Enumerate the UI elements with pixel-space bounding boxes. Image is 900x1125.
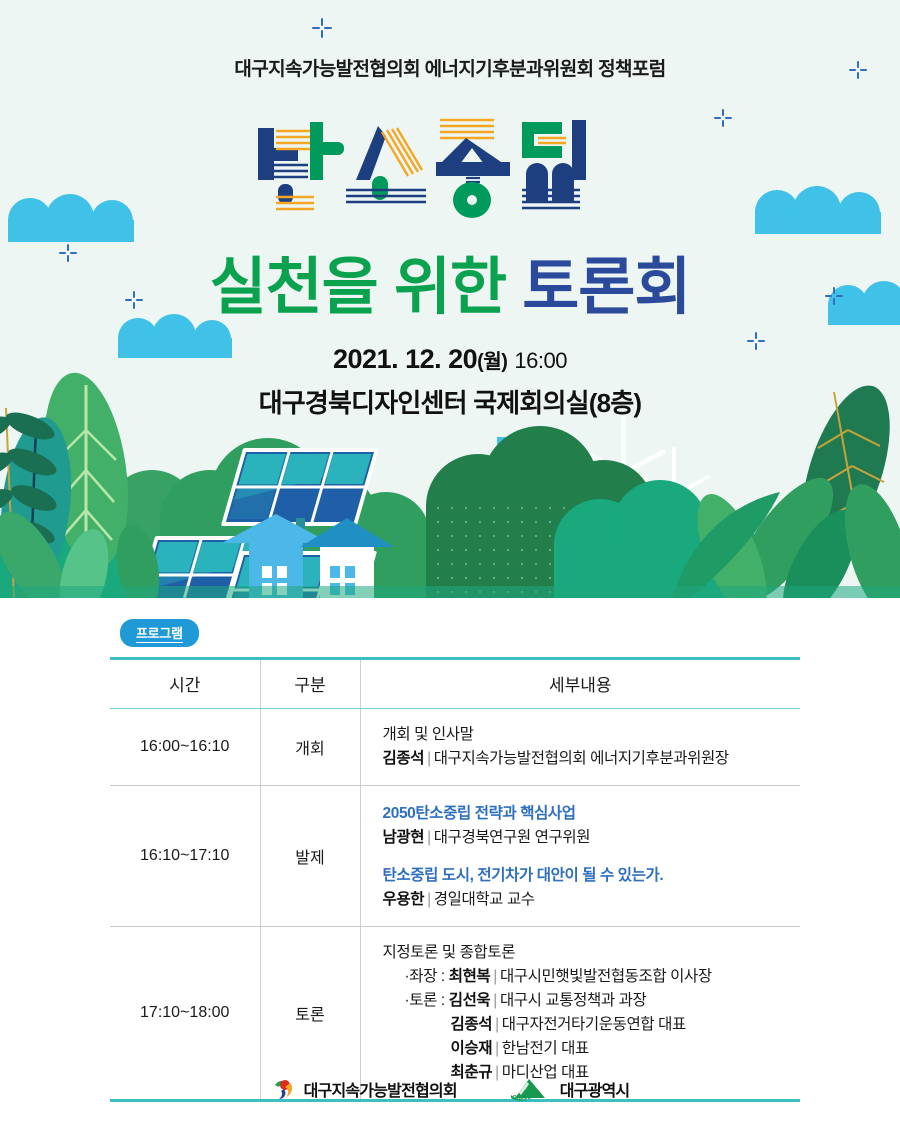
detail-person: 우용한|경일대학교 교수 xyxy=(383,888,791,912)
program-badge: 프로그램 xyxy=(120,619,199,647)
svg-text:DAEGU: DAEGU xyxy=(513,1095,531,1101)
table-row: 17:10~18:00 토론 지정토론 및 종합토론 ·좌장 : 최현복|대구시… xyxy=(110,927,800,1100)
event-time: 16:00 xyxy=(514,348,567,373)
title-glyph-jung xyxy=(436,120,510,218)
detail-text: 개회 및 인사말 xyxy=(383,723,791,747)
program-table: 시간 구분 세부내용 16:00~16:10 개회 개회 및 인사말 김종석|대… xyxy=(110,660,800,1099)
footer-logos: 대구지속가능발전협의회 DAEGU 대구광역시 xyxy=(0,1076,900,1102)
title-glyph-rip xyxy=(522,120,586,208)
title-glyph-tan xyxy=(258,122,344,209)
title-glyph-so xyxy=(346,126,426,202)
row-kind: 개회 xyxy=(260,709,360,786)
detail-topic: 2050탄소중립 전략과 핵심사업 xyxy=(383,802,791,826)
page-title-sub: 실천을 위한 토론회 xyxy=(0,236,900,326)
divider-bar: | xyxy=(424,750,434,767)
person-role-prefix: ·좌장 : xyxy=(405,968,449,985)
event-venue: 대구경북디자인센터 국제회의실(8층) xyxy=(0,383,900,420)
title-sub-navy: 토론회 xyxy=(522,253,690,322)
table-row: 16:10~17:10 발제 2050탄소중립 전략과 핵심사업 남광현|대구경… xyxy=(110,786,800,927)
person-name: 김종석 xyxy=(383,750,425,767)
title-artwork-tansojungrip xyxy=(250,112,650,220)
detail-topic: 탄소중립 도시, 전기차가 대안이 될 수 있는가. xyxy=(383,864,791,888)
person-affiliation: 대구자전거타기운동연합 대표 xyxy=(502,1016,686,1033)
detail-person: 김종석|대구지속가능발전협의회 에너지기후분과위원장 xyxy=(383,747,791,771)
row-time: 16:00~16:10 xyxy=(110,709,260,786)
person-name: 남광현 xyxy=(383,829,425,846)
person-affiliation: 대구시 교통정책과 과장 xyxy=(500,992,646,1009)
table-row: 16:00~16:10 개회 개회 및 인사말 김종석|대구지속가능발전협의회 … xyxy=(110,709,800,786)
detail-person: 남광현|대구경북연구원 연구위원 xyxy=(383,826,791,850)
poster-root: 대구지속가능발전협의회 에너지기후분과위원회 정책포럼 xyxy=(0,0,900,1125)
program-badge-label: 프로그램 xyxy=(136,626,183,643)
swirl-logo-icon xyxy=(271,1076,297,1102)
table-header-row: 시간 구분 세부내용 xyxy=(110,660,800,709)
column-header-kind: 구분 xyxy=(260,660,360,709)
person-role-prefix: ·토론 : xyxy=(405,992,449,1009)
person-affiliation: 대구지속가능발전협의회 에너지기후분과위원장 xyxy=(434,750,729,767)
divider-bar: | xyxy=(492,1016,502,1033)
person-name: 김선욱 xyxy=(449,992,491,1009)
column-header-detail: 세부내용 xyxy=(360,660,800,709)
person-name: 최현복 xyxy=(449,968,491,985)
page-title-main xyxy=(0,112,900,222)
detail-person: 김종석|대구자전거타기운동연합 대표 xyxy=(383,1013,791,1037)
row-kind: 토론 xyxy=(260,927,360,1100)
detail-person: ·좌장 : 최현복|대구시민햇빛발전협동조합 이사장 xyxy=(383,965,791,989)
person-name: 이승재 xyxy=(451,1040,493,1057)
person-affiliation: 한남전기 대표 xyxy=(502,1040,589,1057)
column-header-time: 시간 xyxy=(110,660,260,709)
person-name: 김종석 xyxy=(451,1016,493,1033)
row-time: 17:10~18:00 xyxy=(110,927,260,1100)
event-datetime-block: 2021. 12. 20(월) 16:00 대구경북디자인센터 국제회의실(8층… xyxy=(0,344,900,420)
program-table-wrap: 시간 구분 세부내용 16:00~16:10 개회 개회 및 인사말 김종석|대… xyxy=(110,657,800,1102)
divider-bar: | xyxy=(490,992,500,1009)
divider-bar: | xyxy=(424,829,434,846)
event-date-line: 2021. 12. 20(월) 16:00 xyxy=(0,344,900,375)
logo-daegu-city: DAEGU 대구광역시 xyxy=(509,1076,630,1102)
row-time: 16:10~17:10 xyxy=(110,786,260,927)
divider-bar: | xyxy=(424,891,434,908)
daegu-mountain-logo-icon: DAEGU xyxy=(509,1076,553,1102)
person-affiliation: 대구경북연구원 연구위원 xyxy=(434,829,590,846)
detail-person: ·토론 : 김선욱|대구시 교통정책과 과장 xyxy=(383,989,791,1013)
row-kind: 발제 xyxy=(260,786,360,927)
row-detail: 지정토론 및 종합토론 ·좌장 : 최현복|대구시민햇빛발전협동조합 이사장 ·… xyxy=(360,927,800,1100)
logo-daegu-council: 대구지속가능발전협의회 xyxy=(271,1076,457,1102)
event-date: 2021. 12. 20 xyxy=(333,344,477,374)
divider-bar: | xyxy=(492,1040,502,1057)
person-affiliation: 대구시민햇빛발전협동조합 이사장 xyxy=(500,968,712,985)
logo-label: 대구지속가능발전협의회 xyxy=(304,1077,457,1101)
person-affiliation: 경일대학교 교수 xyxy=(434,891,535,908)
person-name: 우용한 xyxy=(383,891,425,908)
detail-person: 이승재|한남전기 대표 xyxy=(383,1037,791,1061)
row-detail: 개회 및 인사말 김종석|대구지속가능발전협의회 에너지기후분과위원장 xyxy=(360,709,800,786)
event-day-of-week: (월) xyxy=(477,351,507,373)
row-detail: 2050탄소중립 전략과 핵심사업 남광현|대구경북연구원 연구위원 탄소중립 … xyxy=(360,786,800,927)
logo-label: 대구광역시 xyxy=(560,1077,630,1101)
hero-banner: 대구지속가능발전협의회 에너지기후분과위원회 정책포럼 xyxy=(0,0,900,598)
program-table-body: 16:00~16:10 개회 개회 및 인사말 김종석|대구지속가능발전협의회 … xyxy=(110,709,800,1100)
page-kicker: 대구지속가능발전협의회 에너지기후분과위원회 정책포럼 xyxy=(0,54,900,81)
title-sub-green: 실천을 위한 xyxy=(210,253,506,322)
detail-text: 지정토론 및 종합토론 xyxy=(383,941,791,965)
program-table-head: 시간 구분 세부내용 xyxy=(110,660,800,709)
divider-bar: | xyxy=(490,968,500,985)
